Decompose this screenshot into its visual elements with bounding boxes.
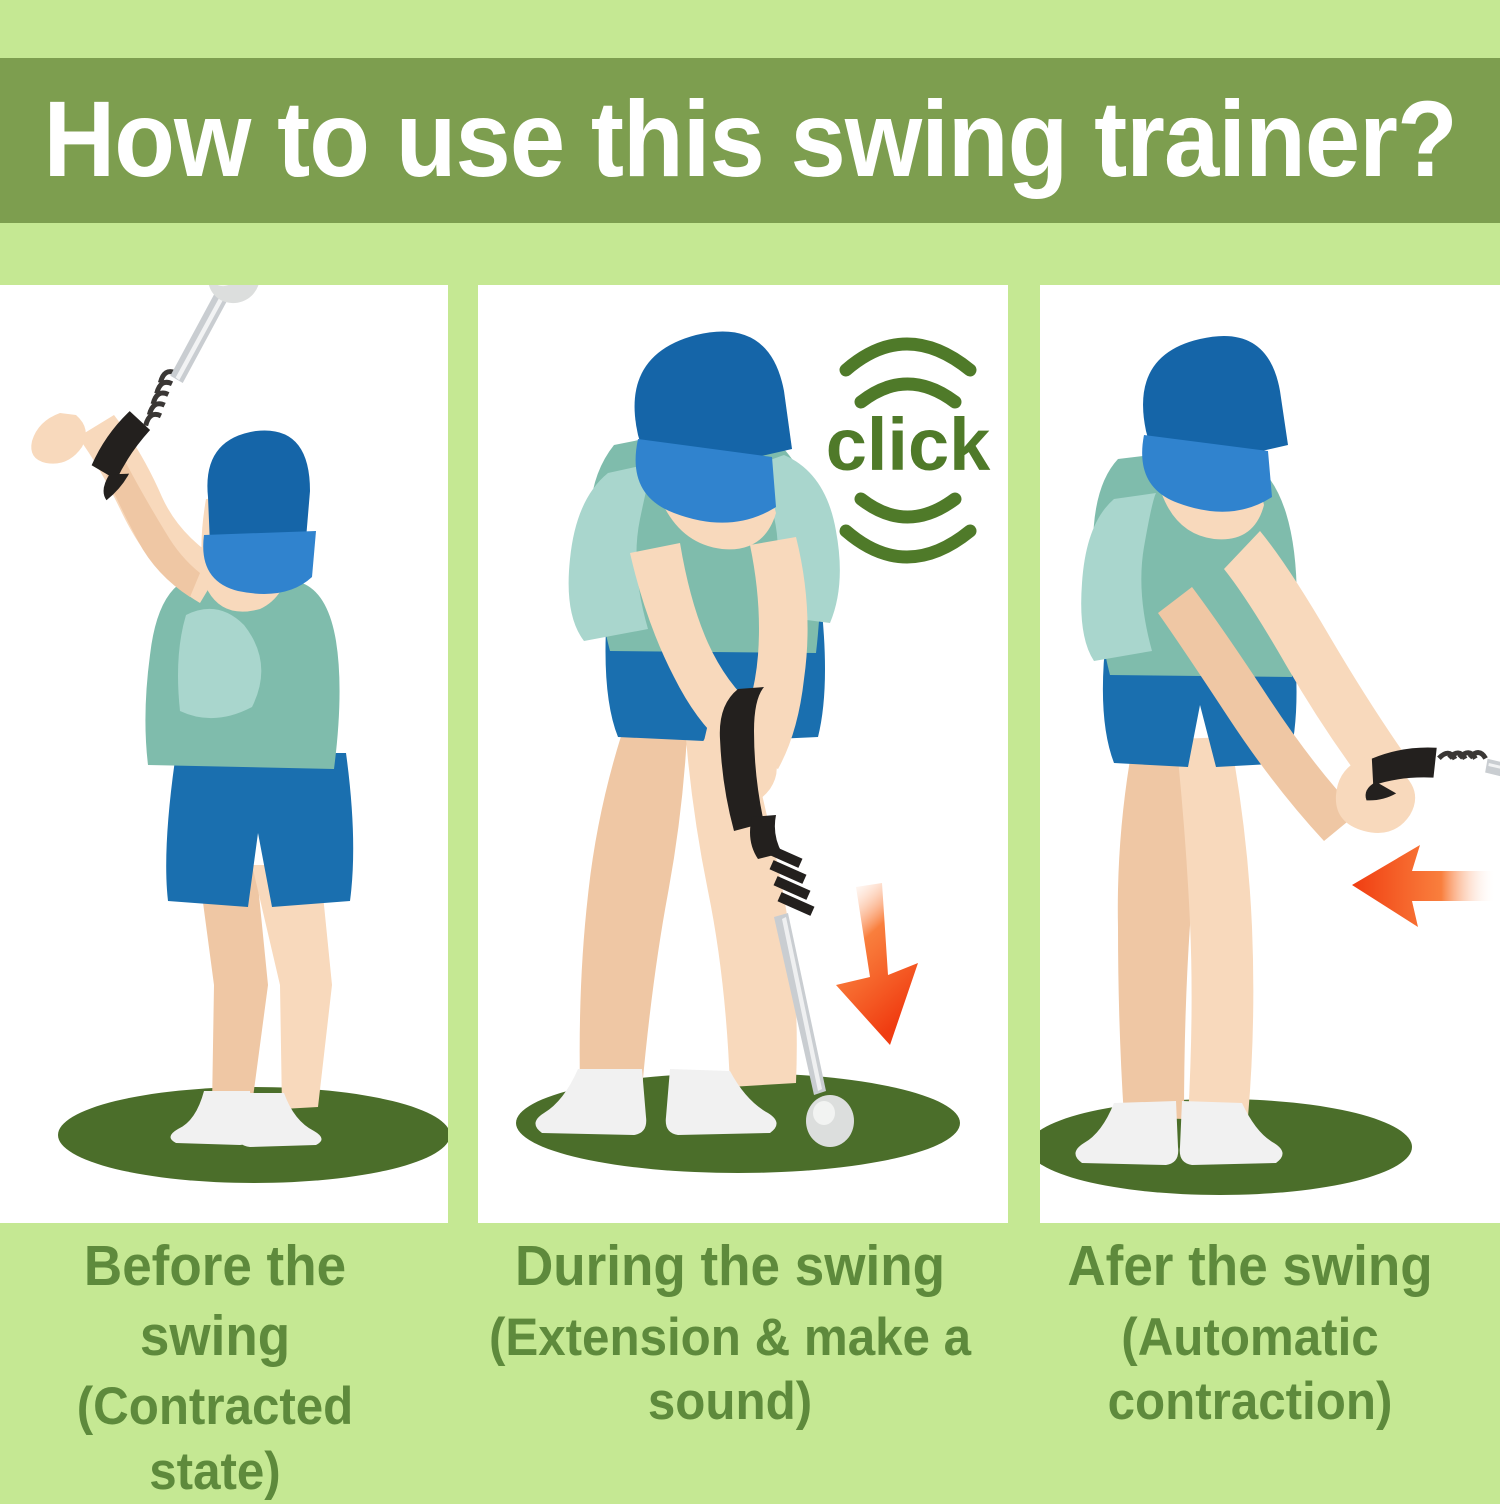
click-label: click <box>826 403 991 486</box>
golfer-backswing-illustration <box>0 285 448 1223</box>
trainer-shaft-highlight <box>152 295 248 381</box>
page-title: How to use this swing trainer? <box>43 85 1456 193</box>
caption-state-label: (Extension & make a sound) <box>460 1306 999 1435</box>
caption-state-label: (Automatic contraction) <box>1018 1306 1483 1435</box>
golfer-far-leg <box>580 709 688 1089</box>
caption-afer-the-swing: Afer the swing (Automatic contraction) <box>1000 1232 1500 1435</box>
golfer-cap-crown <box>207 431 310 546</box>
click-arc-bottom-inner <box>861 499 955 517</box>
caption-before-the-swing: Before the swing (Contracted state) <box>0 1232 430 1504</box>
golfer-hand <box>31 413 86 464</box>
panel-during-the-swing: click <box>478 285 1008 1223</box>
caption-state-label: (Contracted state) <box>15 1375 415 1504</box>
trainer-spring <box>1439 746 1486 766</box>
click-sound-graphic: click <box>826 344 991 557</box>
click-arc-bottom-outer <box>846 531 970 557</box>
header-banner: How to use this swing trainer? <box>0 58 1500 223</box>
click-arc-top-outer <box>846 344 970 370</box>
contraction-arrow-icon <box>1352 845 1496 927</box>
golfer-impact-illustration: click <box>478 285 1008 1223</box>
golfer-follow-through-illustration <box>1040 285 1500 1223</box>
panel-captions: Before the swing (Contracted state) Duri… <box>0 1232 1500 1422</box>
click-arc-top-inner <box>861 384 955 402</box>
caption-stage-label: Afer the swing <box>1018 1232 1483 1302</box>
trainer-ball-highlight <box>813 1101 835 1125</box>
caption-during-the-swing: During the swing (Extension & make a sou… <box>440 1232 1020 1435</box>
illustration-panels: click <box>0 285 1500 1223</box>
trainer-shaft <box>1484 759 1500 788</box>
panel-before-the-swing <box>0 285 448 1223</box>
extension-arrow-icon <box>836 883 918 1045</box>
caption-stage-label: During the swing <box>460 1232 999 1302</box>
panel-afer-the-swing <box>1040 285 1500 1223</box>
caption-stage-label: Before the swing <box>15 1232 415 1371</box>
